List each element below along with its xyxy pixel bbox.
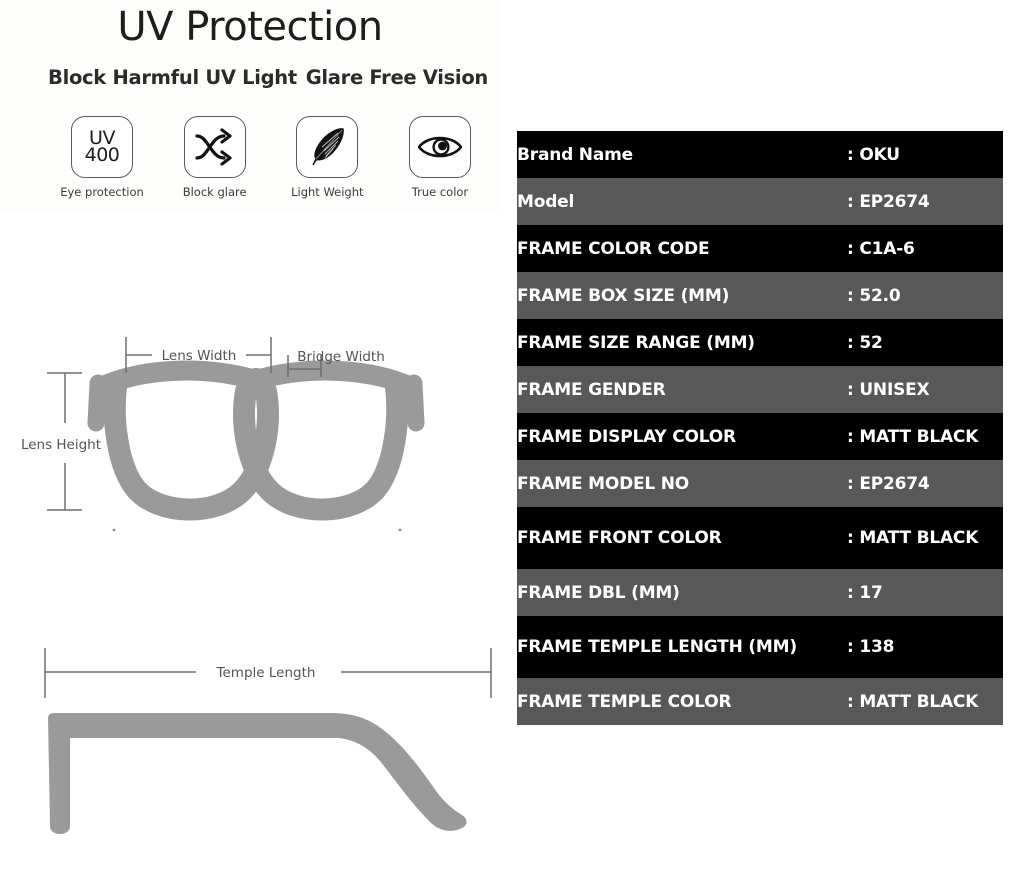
- spec-value-text: C1A-6: [859, 239, 914, 259]
- spec-key: FRAME MODEL NO: [517, 460, 847, 507]
- table-row: FRAME BOX SIZE (MM) : 52.0: [517, 272, 1003, 319]
- bridge-width-label: Bridge Width: [297, 349, 385, 365]
- eye-icon: [409, 116, 471, 178]
- spec-separator: :: [847, 333, 854, 353]
- spec-separator: :: [847, 583, 854, 603]
- spec-value-text: 52.0: [859, 286, 900, 306]
- spec-separator: :: [847, 692, 854, 712]
- spec-key: FRAME BOX SIZE (MM): [517, 272, 847, 319]
- spec-value-text: OKU: [859, 145, 900, 165]
- spec-separator: :: [847, 380, 854, 400]
- table-row: FRAME DBL (MM) : 17: [517, 569, 1003, 616]
- spec-value-text: MATT BLACK: [859, 692, 978, 712]
- table-row: FRAME SIZE RANGE (MM) : 52: [517, 319, 1003, 366]
- product-specification-table: Brand Name : OKU Model : EP2674 FRAME CO…: [517, 131, 1003, 725]
- spec-value: : 17: [847, 569, 1003, 616]
- spec-value-text: 52: [859, 333, 882, 353]
- table-row: Model : EP2674: [517, 178, 1003, 225]
- spec-value-text: 138: [859, 637, 894, 657]
- table-row: FRAME GENDER : UNISEX: [517, 366, 1003, 413]
- product-info-panel: UV Protection Block Harmful UV Light Gla…: [0, 0, 512, 886]
- spec-separator: :: [847, 528, 854, 548]
- temple-arm-shape: [48, 713, 467, 834]
- spec-value-text: MATT BLACK: [859, 427, 978, 447]
- spec-key: FRAME GENDER: [517, 366, 847, 413]
- spec-key: Model: [517, 178, 847, 225]
- banner-subtitle-right: Glare Free Vision: [306, 66, 488, 89]
- spec-value: : 138: [847, 616, 1003, 678]
- spec-value: : C1A-6: [847, 225, 1003, 272]
- feature-caption: Block glare: [183, 185, 247, 199]
- spec-key: Brand Name: [517, 131, 847, 178]
- table-row: FRAME TEMPLE LENGTH (MM) : 138: [517, 616, 1003, 678]
- feature-block-glare: Block glare: [169, 116, 261, 199]
- spec-value: : MATT BLACK: [847, 413, 1003, 460]
- spec-value: : MATT BLACK: [847, 507, 1003, 569]
- lens-width-label: Lens Width: [162, 348, 237, 364]
- spec-value: : OKU: [847, 131, 1003, 178]
- spec-value-text: EP2674: [859, 192, 929, 212]
- spec-value: : 52: [847, 319, 1003, 366]
- banner-subtitles: Block Harmful UV Light Glare Free Vision: [48, 66, 488, 89]
- temple-length-label: Temple Length: [216, 665, 316, 681]
- spec-key: FRAME DBL (MM): [517, 569, 847, 616]
- spec-key: FRAME TEMPLE LENGTH (MM): [517, 616, 847, 678]
- spec-key: FRAME FRONT COLOR: [517, 507, 847, 569]
- feature-true-color: True color: [394, 116, 486, 199]
- spec-value-text: 17: [859, 583, 882, 603]
- table-row: FRAME DISPLAY COLOR : MATT BLACK: [517, 413, 1003, 460]
- table-row: FRAME FRONT COLOR : MATT BLACK: [517, 507, 1003, 569]
- spec-value-text: MATT BLACK: [859, 528, 978, 548]
- spec-separator: :: [847, 286, 854, 306]
- uv-protection-banner: UV Protection Block Harmful UV Light Gla…: [0, 0, 500, 212]
- screw-dot: [113, 529, 116, 532]
- feature-icon-row: UV 400 Eye protection: [56, 116, 486, 199]
- spec-value: : 52.0: [847, 272, 1003, 319]
- lens-height-label: Lens Height: [21, 437, 101, 453]
- spec-value: : MATT BLACK: [847, 678, 1003, 725]
- spec-separator: :: [847, 192, 854, 212]
- feature-caption: Eye protection: [60, 185, 144, 199]
- banner-title: UV Protection: [0, 4, 500, 50]
- spec-value-text: EP2674: [859, 474, 929, 494]
- uv400-icon: UV 400: [71, 116, 133, 178]
- shuffle-arrows-icon: [184, 116, 246, 178]
- spec-key: FRAME DISPLAY COLOR: [517, 413, 847, 460]
- feature-eye-protection: UV 400 Eye protection: [56, 116, 148, 199]
- frame-measurement-diagram: Lens Width Bridge Width Lens Height: [0, 325, 512, 575]
- spec-key: FRAME COLOR CODE: [517, 225, 847, 272]
- temple-measurement-diagram: Temple Length: [0, 630, 512, 850]
- feature-caption: True color: [412, 185, 468, 199]
- spec-key: FRAME SIZE RANGE (MM): [517, 319, 847, 366]
- spec-separator: :: [847, 637, 854, 657]
- spec-separator: :: [847, 427, 854, 447]
- spec-value: : EP2674: [847, 178, 1003, 225]
- spec-value: : EP2674: [847, 460, 1003, 507]
- feather-icon: [296, 116, 358, 178]
- table-row: FRAME COLOR CODE : C1A-6: [517, 225, 1003, 272]
- uv400-line2: 400: [85, 147, 120, 164]
- spec-separator: :: [847, 239, 854, 259]
- spec-value: : UNISEX: [847, 366, 1003, 413]
- screw-dot: [399, 529, 402, 532]
- table-row: FRAME MODEL NO : EP2674: [517, 460, 1003, 507]
- banner-subtitle-left: Block Harmful UV Light: [48, 66, 297, 89]
- spec-value-text: UNISEX: [859, 380, 929, 400]
- feature-caption: Light Weight: [291, 185, 363, 199]
- table-row: Brand Name : OKU: [517, 131, 1003, 178]
- feature-light-weight: Light Weight: [281, 116, 373, 199]
- spec-key: FRAME TEMPLE COLOR: [517, 678, 847, 725]
- spec-separator: :: [847, 145, 854, 165]
- spec-separator: :: [847, 474, 854, 494]
- table-row: FRAME TEMPLE COLOR : MATT BLACK: [517, 678, 1003, 725]
